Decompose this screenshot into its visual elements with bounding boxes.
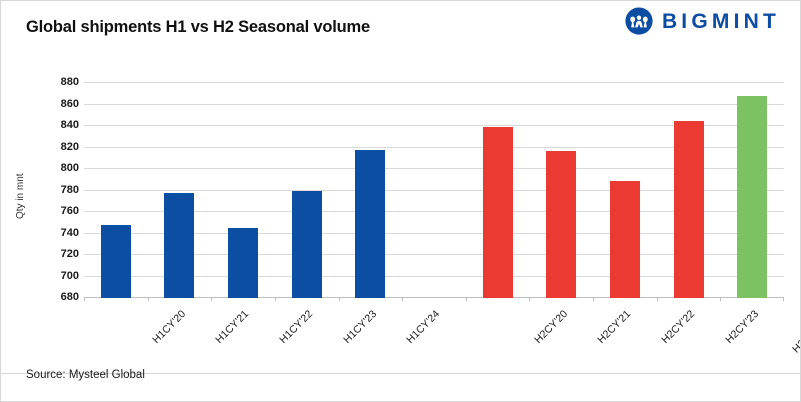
x-axis-tick-label: H2CY'21 (595, 308, 633, 346)
bar (546, 151, 576, 298)
x-axis-tick-label: H1CY'23 (341, 308, 379, 346)
bar (610, 181, 640, 298)
x-axis-tickmark (275, 297, 276, 301)
y-axis-tick-label: 780 (35, 184, 79, 196)
x-axis-tick-label: H1CY'24 (405, 308, 443, 346)
chart-page: Global shipments H1 vs H2 Seasonal volum… (0, 0, 801, 402)
x-axis-tick-label: H1CY'22 (277, 308, 315, 346)
source-note: Source: Mysteel Global (26, 369, 145, 381)
bar (101, 225, 131, 298)
x-axis-tick-label: H2CY'20 (532, 308, 570, 346)
y-axis-tick-label: 700 (35, 270, 79, 282)
y-axis-tick-label: 680 (35, 291, 79, 303)
x-axis-tick-label: H1CY'21 (214, 308, 252, 346)
y-axis-tick-label: 880 (35, 76, 79, 88)
x-axis-tick-label: H1CY'20 (150, 308, 188, 346)
x-axis-tick-label: H2CY'22 (659, 308, 697, 346)
x-axis-tickmark (657, 297, 658, 301)
x-axis-tickmark (339, 297, 340, 301)
x-axis-tickmark (84, 297, 85, 301)
bars-layer (84, 59, 784, 298)
x-axis-tickmark (783, 297, 784, 301)
y-axis-ticks: 880860840820800780760740720700680 (35, 59, 79, 304)
y-axis-tick-label: 840 (35, 119, 79, 131)
bar (164, 193, 194, 298)
brand-wordmark: BIGMINT (662, 11, 780, 32)
bar (737, 96, 767, 298)
bar (483, 127, 513, 298)
y-axis-tick-label: 820 (35, 141, 79, 153)
x-axis-tickmark (148, 297, 149, 301)
y-axis-title: Qty in mnt (15, 173, 26, 219)
bar (292, 191, 322, 299)
y-axis-tick-label: 860 (35, 98, 79, 110)
page-title: Global shipments H1 vs H2 Seasonal volum… (26, 18, 370, 37)
x-axis-tickmark (466, 297, 467, 301)
bar (228, 228, 258, 298)
x-axis-tick-label: H2CY'24(F) (790, 308, 801, 355)
x-axis-labels: H1CY'20H1CY'21H1CY'22H1CY'23H1CY'24H2CY'… (84, 302, 784, 359)
x-axis-tickmark (211, 297, 212, 301)
y-axis-tick-label: 740 (35, 227, 79, 239)
x-axis-tickmark (529, 297, 530, 301)
y-axis-tick-label: 760 (35, 205, 79, 217)
bigmint-emblem-icon (625, 7, 653, 35)
bar (355, 150, 385, 298)
bar (674, 121, 704, 298)
chart-header: Global shipments H1 vs H2 Seasonal volum… (1, 1, 801, 59)
x-axis-tick-label: H2CY'23 (723, 308, 761, 346)
x-axis-tickmark (720, 297, 721, 301)
y-axis-tick-label: 720 (35, 248, 79, 260)
y-axis-tick-label: 800 (35, 162, 79, 174)
plot-area: Qty in mnt 88086084082080078076074072070… (1, 59, 801, 359)
x-axis-tickmark (593, 297, 594, 301)
x-axis-tickmark (402, 297, 403, 301)
bigmint-logo: BIGMINT (625, 7, 780, 35)
